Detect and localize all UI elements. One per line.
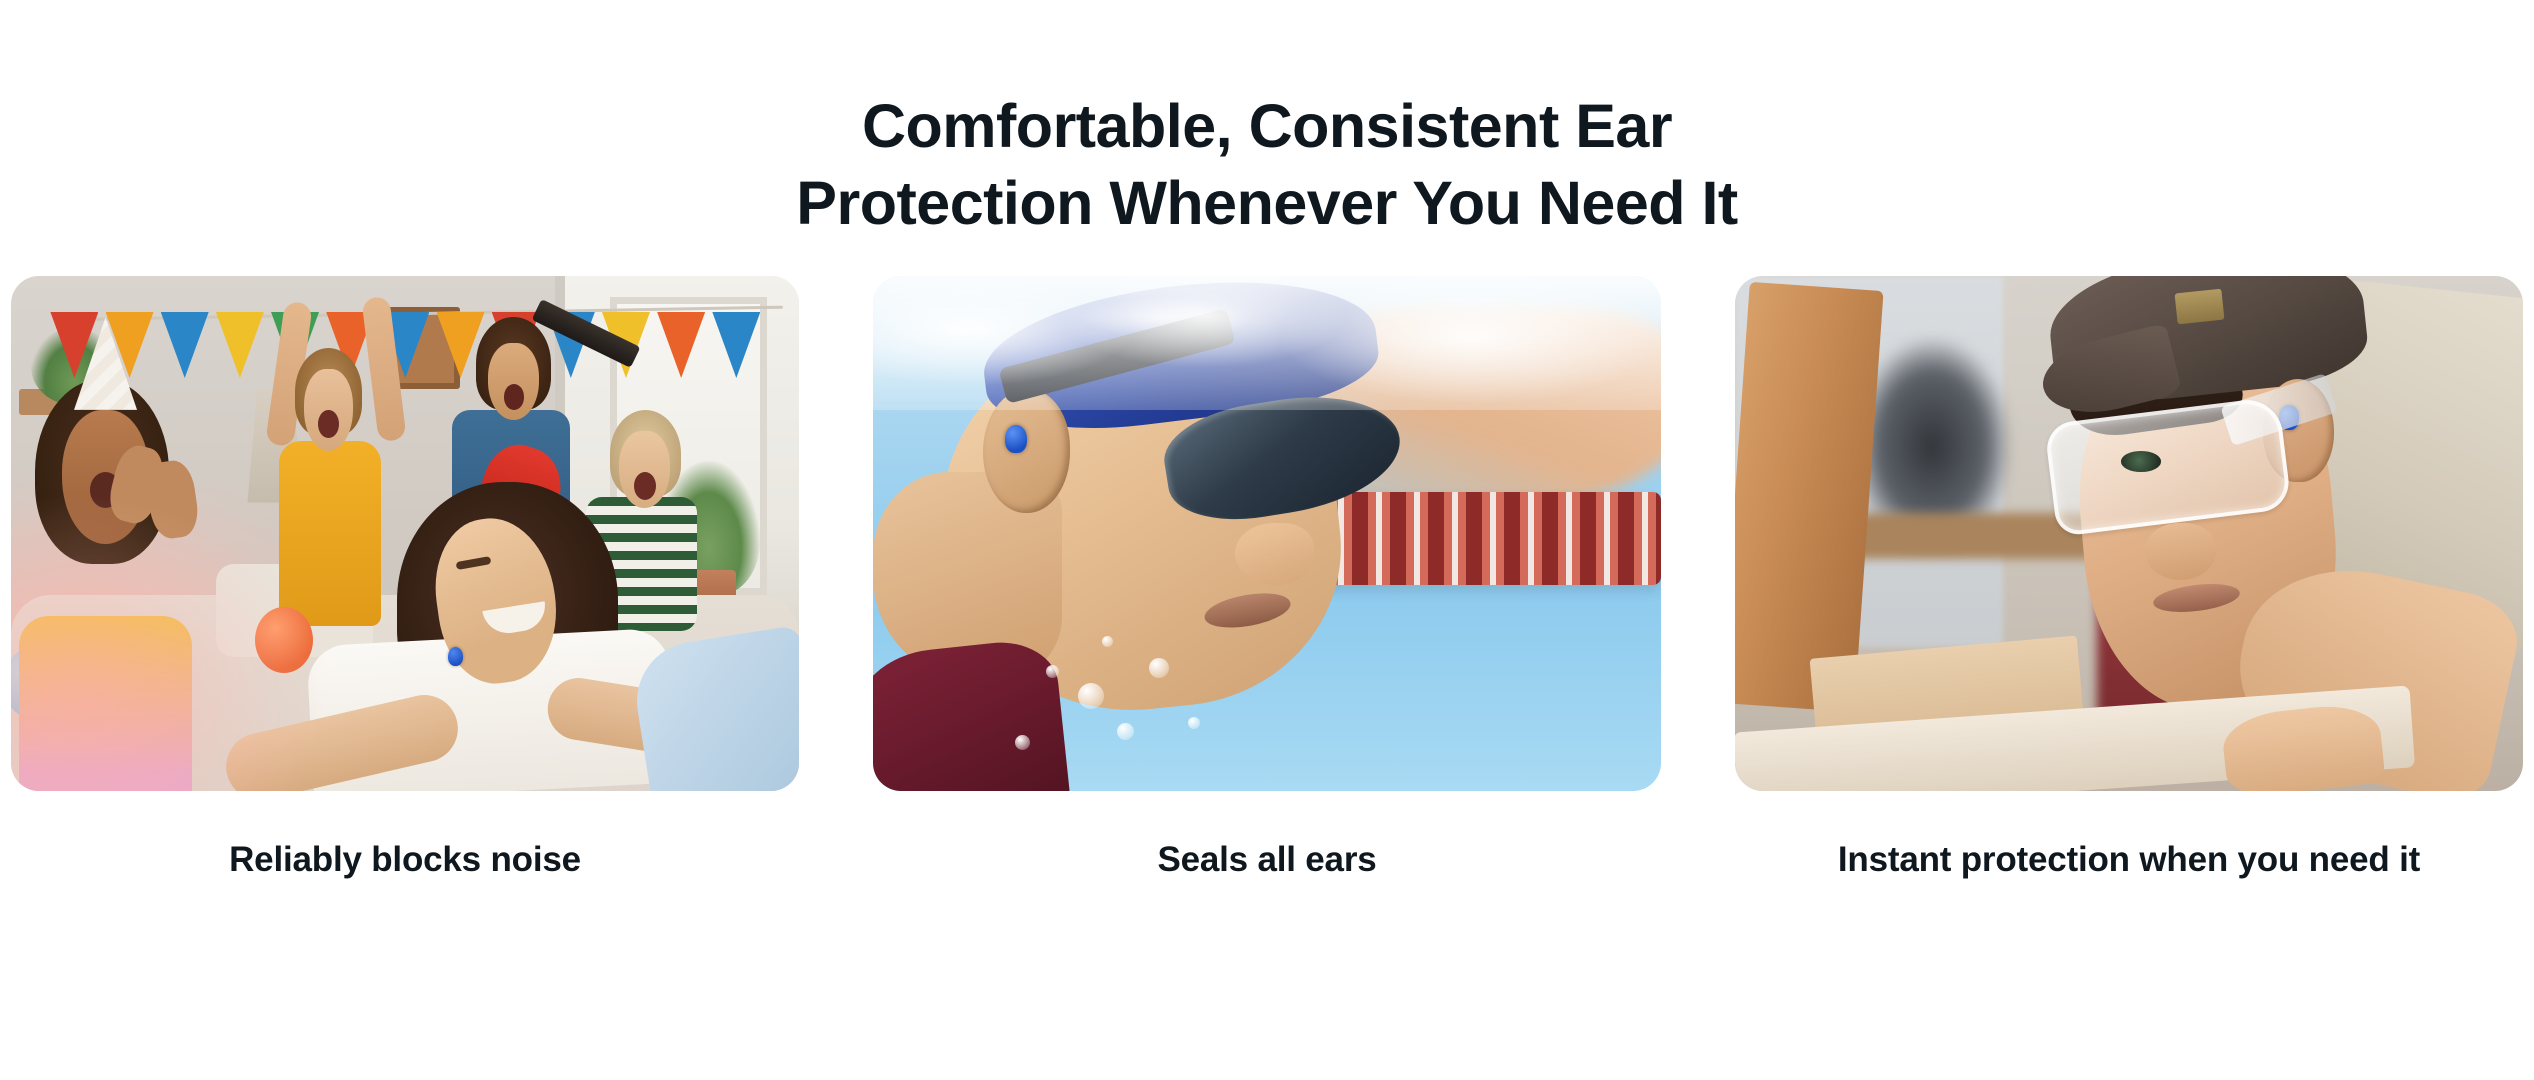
blue-earplug-in-ear bbox=[1005, 425, 1027, 453]
child-guitarist-mouth bbox=[504, 384, 524, 410]
bubble bbox=[1102, 636, 1113, 647]
balloon-orange-shape bbox=[255, 607, 313, 673]
bubble bbox=[1078, 683, 1104, 709]
cap-buckle bbox=[2175, 289, 2225, 325]
carpenter-eye bbox=[2121, 451, 2160, 472]
feature-caption: Reliably blocks noise bbox=[229, 839, 581, 880]
feature-card-seals-all-ears: Seals all ears bbox=[873, 276, 1661, 880]
wood-plank-left bbox=[1735, 282, 1884, 713]
feature-card-reliably-blocks-noise: Reliably blocks noise bbox=[11, 276, 799, 880]
ear-protection-feature-section: Comfortable, Consistent Ear Protection W… bbox=[0, 0, 2534, 1080]
feature-card-instant-protection: Instant protection when you need it bbox=[1735, 276, 2523, 880]
page-title-line-2: Protection Whenever You Need It bbox=[200, 173, 2334, 234]
workshop-carpenter-photo bbox=[1735, 276, 2523, 791]
swimmer-nose bbox=[1235, 523, 1314, 585]
pool-lane-rope bbox=[1314, 492, 1661, 585]
bubble bbox=[1149, 658, 1169, 678]
swimsuit-strap bbox=[873, 637, 1070, 791]
feature-card-grid: Reliably blocks noise bbox=[0, 276, 2534, 880]
bubble bbox=[1188, 717, 1200, 729]
page-title: Comfortable, Consistent Ear Protection W… bbox=[0, 96, 2534, 234]
bunting-flag bbox=[216, 312, 264, 378]
bubble bbox=[1117, 723, 1134, 740]
bubble bbox=[1015, 735, 1030, 750]
page-title-line-1: Comfortable, Consistent Ear bbox=[200, 96, 2334, 157]
feature-caption: Seals all ears bbox=[1157, 839, 1376, 880]
carpenter-nose bbox=[2145, 523, 2216, 580]
water-surface-splash bbox=[873, 276, 1661, 410]
bubble bbox=[1046, 665, 1059, 678]
feature-caption: Instant protection when you need it bbox=[1838, 839, 2420, 880]
child-center-mouth bbox=[318, 410, 338, 438]
child-center-body bbox=[279, 441, 381, 626]
blue-earplug-in-ear bbox=[448, 647, 463, 666]
bunting-flag bbox=[161, 312, 209, 378]
underwater-swimmer-photo bbox=[873, 276, 1661, 791]
child-left-body bbox=[19, 616, 192, 791]
kids-party-woman-relaxing-photo bbox=[11, 276, 799, 791]
child-right-mouth bbox=[634, 472, 656, 500]
